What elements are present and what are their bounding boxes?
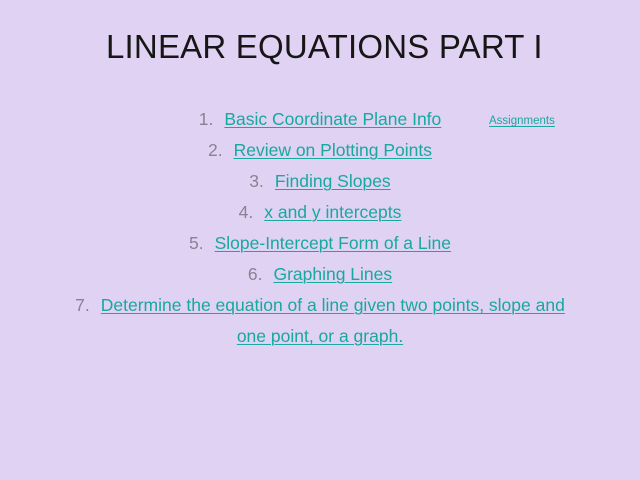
page-title: LINEAR EQUATIONS PART I bbox=[106, 26, 566, 68]
list-item-number: 7. bbox=[75, 295, 101, 315]
outline-list: 1.Basic Coordinate Plane Info 2.Review o… bbox=[60, 104, 580, 352]
list-item[interactable]: 5.Slope-Intercept Form of a Line bbox=[60, 228, 580, 259]
list-item-number: 1. bbox=[199, 109, 225, 129]
list-item[interactable]: 7.Determine the equation of a line given… bbox=[60, 290, 580, 352]
list-item-number: 6. bbox=[248, 264, 274, 284]
list-item[interactable]: 4.x and y intercepts bbox=[60, 197, 580, 228]
list-item-link[interactable]: Basic Coordinate Plane Info bbox=[224, 109, 441, 129]
list-item[interactable]: 6.Graphing Lines bbox=[60, 259, 580, 290]
list-item[interactable]: 3.Finding Slopes bbox=[60, 166, 580, 197]
list-item-number: 2. bbox=[208, 140, 234, 160]
list-item-number: 3. bbox=[249, 171, 275, 191]
list-item-link[interactable]: x and y intercepts bbox=[264, 202, 401, 222]
list-item-link[interactable]: Review on Plotting Points bbox=[234, 140, 432, 160]
assignments-link[interactable]: Assignments bbox=[489, 114, 555, 128]
list-item-link[interactable]: Finding Slopes bbox=[275, 171, 391, 191]
slide-canvas: LINEAR EQUATIONS PART I 1.Basic Coordina… bbox=[0, 0, 640, 480]
list-item-link[interactable]: Slope-Intercept Form of a Line bbox=[215, 233, 451, 253]
list-item[interactable]: 2.Review on Plotting Points bbox=[60, 135, 580, 166]
list-item-link[interactable]: Graphing Lines bbox=[273, 264, 392, 284]
list-item-number: 5. bbox=[189, 233, 215, 253]
list-item-number: 4. bbox=[239, 202, 265, 222]
list-item-link[interactable]: Determine the equation of a line given t… bbox=[101, 295, 565, 346]
